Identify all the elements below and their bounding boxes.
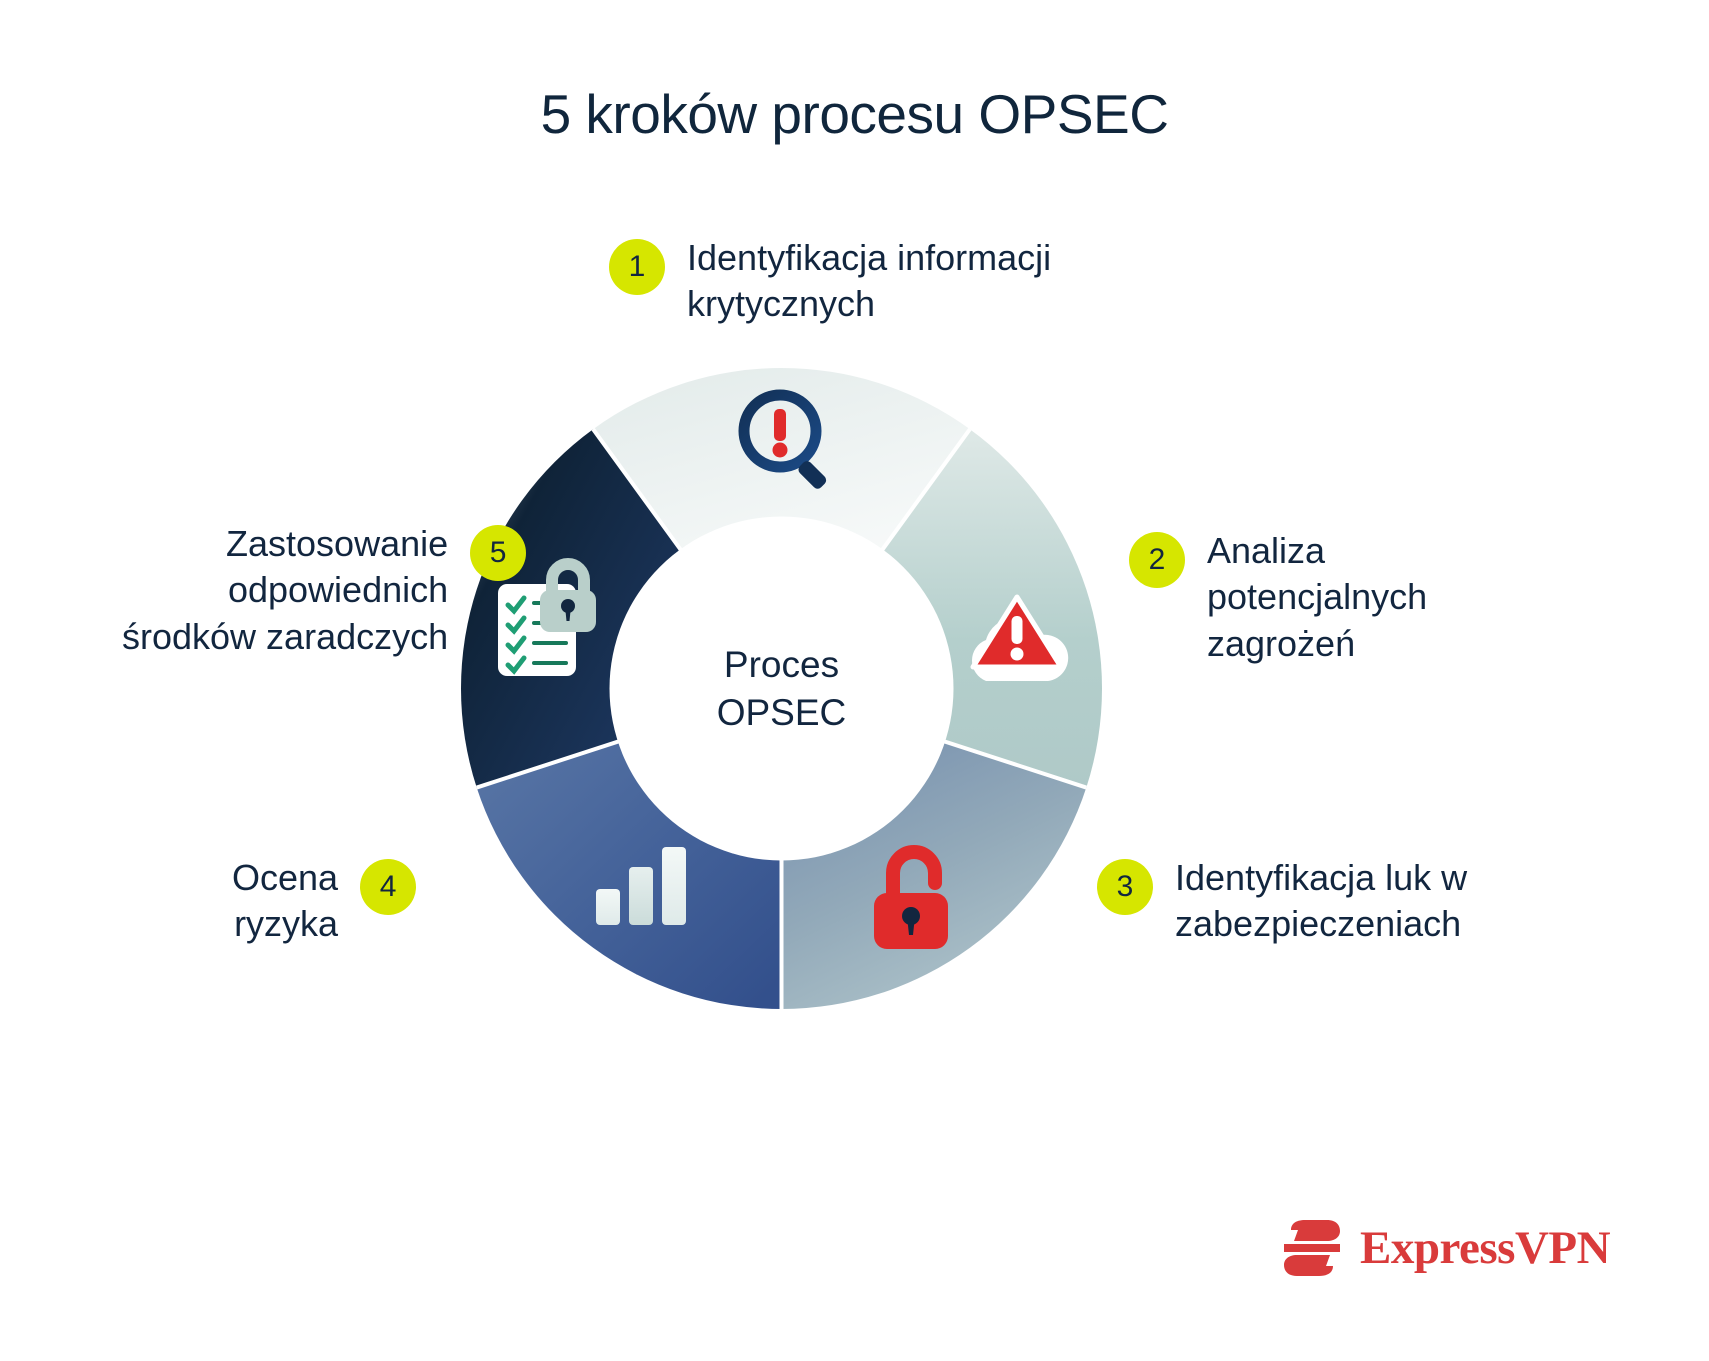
step-2-label: Analiza potencjalnych zagrożeń (1207, 528, 1427, 667)
step-2-badge: 2 (1129, 532, 1185, 588)
center-line-1: Proces (724, 641, 839, 688)
step-3-label: Identyfikacja luk w zabezpieczeniach (1175, 855, 1467, 948)
unlocked-padlock-icon (862, 845, 966, 953)
center-line-2: OPSEC (717, 689, 847, 736)
step-5-label: Zastosowanie odpowiednich środków zaradc… (122, 521, 448, 660)
donut-center-label: Proces OPSEC (626, 533, 937, 844)
magnifier-alert-icon (735, 387, 845, 499)
step-3[interactable]: 3 Identyfikacja luk w zabezpieczeniach (1097, 855, 1467, 948)
step-1[interactable]: 1 Identyfikacja informacji krytycznych (609, 235, 1051, 328)
step-5[interactable]: Zastosowanie odpowiednich środków zaradc… (122, 521, 526, 660)
step-1-badge: 1 (609, 239, 665, 295)
step-1-label: Identyfikacja informacji krytycznych (687, 235, 1051, 328)
infographic-canvas: 5 kroków procesu OPSEC (0, 0, 1709, 1361)
bar-chart-icon (594, 845, 690, 925)
cloud-warning-icon (960, 583, 1075, 688)
step-4-badge: 4 (360, 859, 416, 915)
step-4-label: Ocena ryzyka (232, 855, 338, 948)
expressvpn-e-icon (1278, 1214, 1346, 1282)
step-3-badge: 3 (1097, 859, 1153, 915)
expressvpn-logo[interactable]: ExpressVPN (1278, 1214, 1610, 1282)
step-5-badge: 5 (470, 525, 526, 581)
step-4[interactable]: Ocena ryzyka 4 (232, 855, 416, 948)
step-2[interactable]: 2 Analiza potencjalnych zagrożeń (1129, 528, 1427, 667)
page-title: 5 kroków procesu OPSEC (0, 82, 1709, 146)
logo-wordmark: ExpressVPN (1360, 1221, 1610, 1275)
